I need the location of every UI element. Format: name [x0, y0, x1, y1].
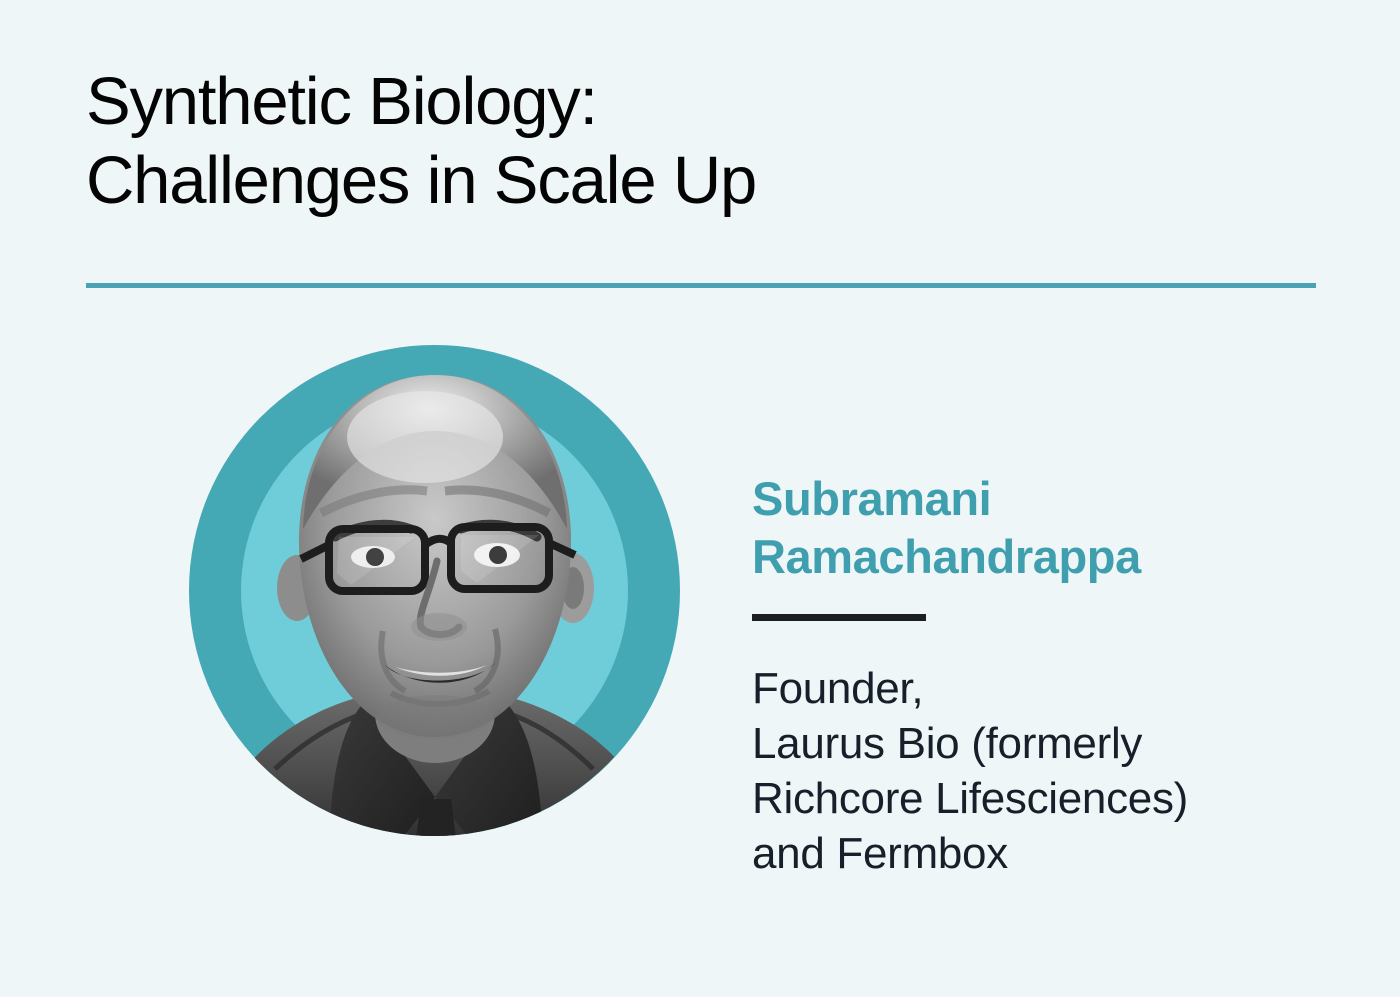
- speaker-name-rule: [752, 614, 926, 621]
- speaker-role-line-2: Laurus Bio (formerly: [752, 716, 1332, 771]
- title-divider: [86, 283, 1316, 288]
- page-title: Synthetic Biology: Challenges in Scale U…: [86, 62, 1086, 220]
- title-line-2: Challenges in Scale Up: [86, 141, 1086, 220]
- speaker-role: Founder, Laurus Bio (formerly Richcore L…: [752, 661, 1332, 881]
- speaker-info: Subramani Ramachandrappa Founder, Laurus…: [752, 470, 1332, 881]
- speaker-role-line-1: Founder,: [752, 661, 1332, 716]
- portrait-photo-clip: [189, 345, 680, 847]
- speaker-name-line-2: Ramachandrappa: [752, 528, 1332, 586]
- speaker-role-line-4: and Fermbox: [752, 826, 1332, 881]
- speaker-name-line-1: Subramani: [752, 470, 1332, 528]
- title-line-1: Synthetic Biology:: [86, 62, 1086, 141]
- portrait-photo: [189, 345, 680, 847]
- speaker-portrait: [189, 345, 680, 847]
- speaker-title-slide: Synthetic Biology: Challenges in Scale U…: [0, 0, 1400, 997]
- speaker-role-line-3: Richcore Lifesciences): [752, 771, 1332, 826]
